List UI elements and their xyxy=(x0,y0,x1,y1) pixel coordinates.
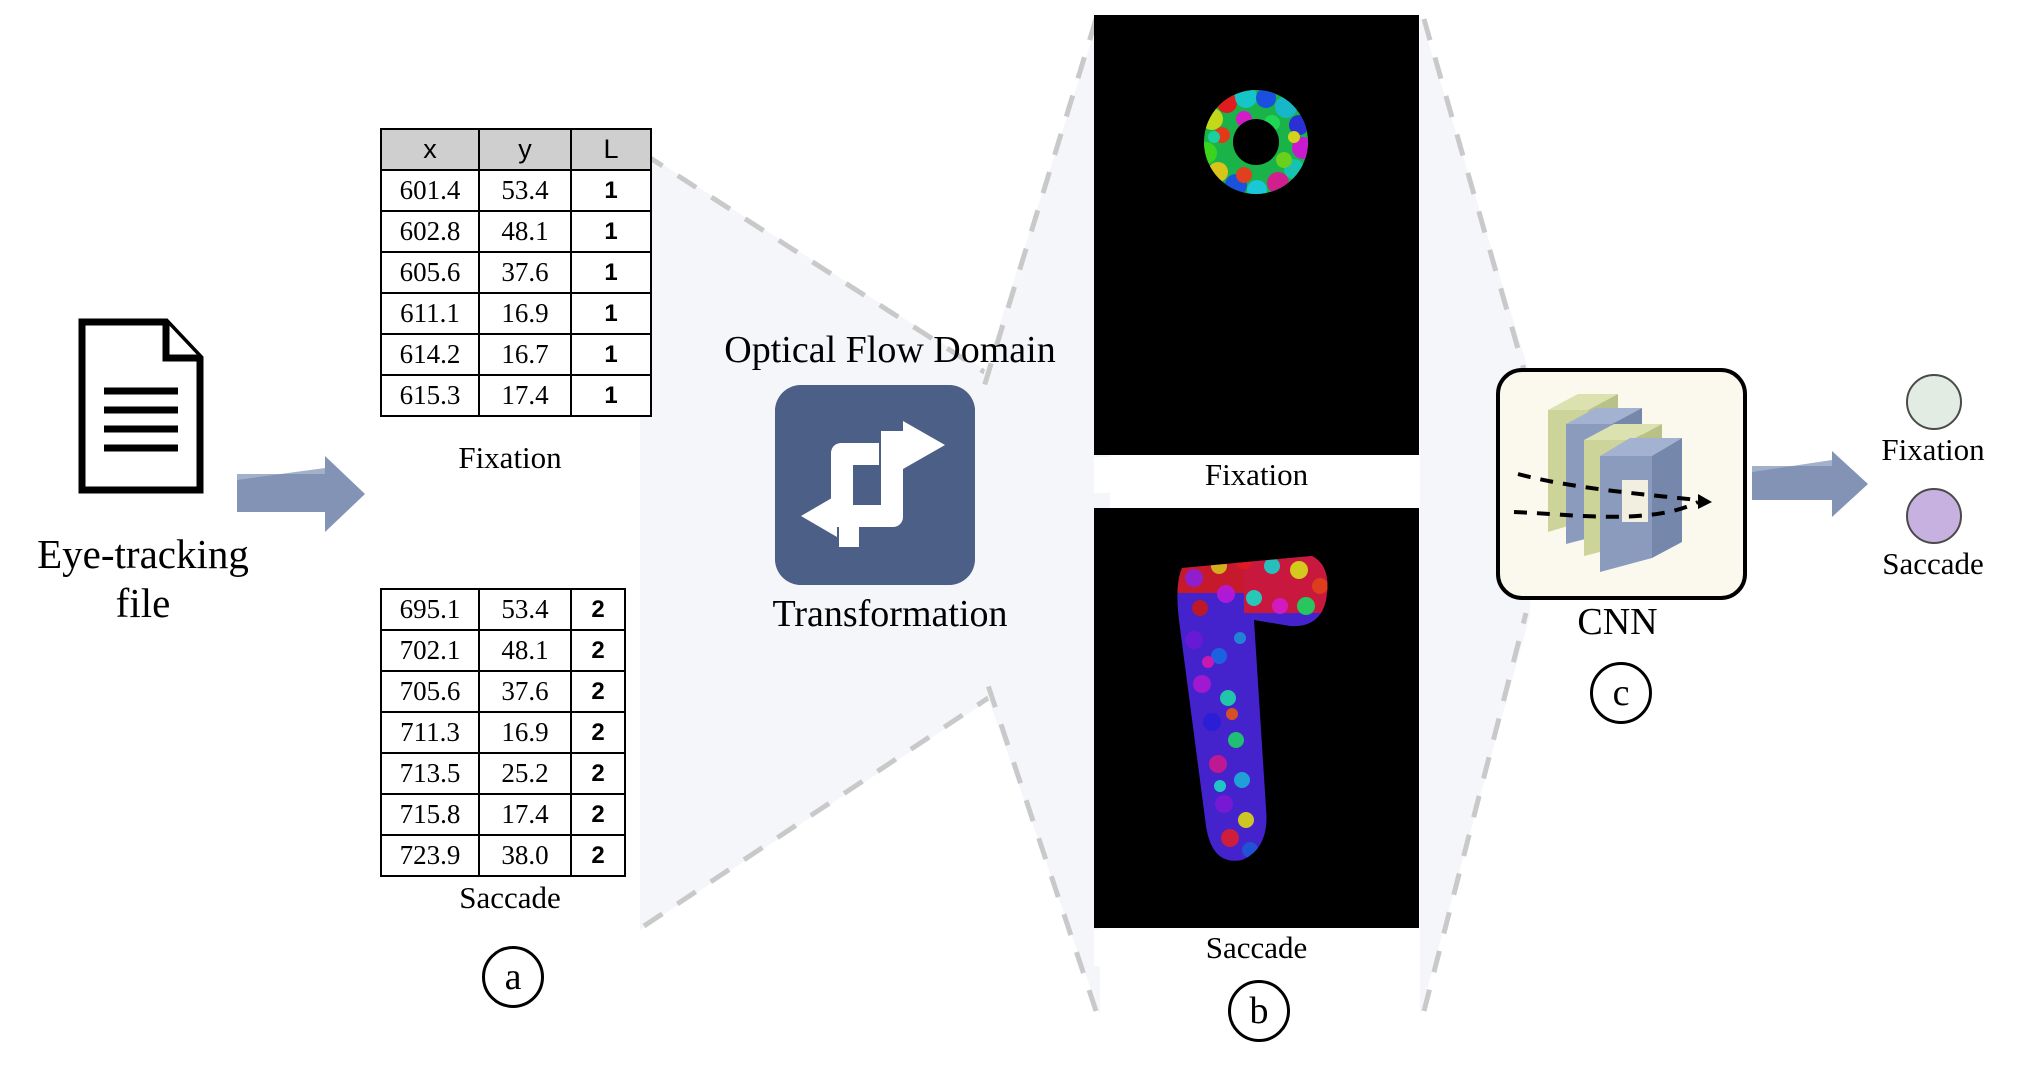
cell-x: 723.9 xyxy=(381,835,479,876)
output-dot-saccade xyxy=(1906,488,1962,544)
marker-a: a xyxy=(482,946,544,1008)
table-row: 602.8 48.1 1 xyxy=(381,211,651,252)
cell-l: 1 xyxy=(571,334,651,375)
cell-y: 48.1 xyxy=(479,211,571,252)
cell-l: 1 xyxy=(571,293,651,334)
cell-y: 53.4 xyxy=(479,589,571,630)
cell-x: 601.4 xyxy=(381,170,479,211)
table-row: 723.9 38.0 2 xyxy=(381,835,625,876)
cell-l: 2 xyxy=(571,753,625,794)
table-row: 601.4 53.4 1 xyxy=(381,170,651,211)
marker-b: b xyxy=(1228,980,1290,1042)
transformation-caption: Transformation xyxy=(680,592,1100,636)
cell-x: 615.3 xyxy=(381,375,479,416)
fixation-table-caption: Fixation xyxy=(380,440,640,476)
table-row: 715.8 17.4 2 xyxy=(381,794,625,835)
cnn-layers-icon xyxy=(1500,372,1735,588)
table-header-row: x y L xyxy=(381,129,651,170)
flow-transform-icon xyxy=(775,385,975,585)
column-header-l: L xyxy=(571,129,651,170)
cell-x: 602.8 xyxy=(381,211,479,252)
output-dot-fixation xyxy=(1906,374,1962,430)
cell-x: 715.8 xyxy=(381,794,479,835)
flow-image-saccade xyxy=(1094,508,1419,928)
cell-l: 2 xyxy=(571,589,625,630)
cell-l: 1 xyxy=(571,252,651,293)
input-label: Eye-tracking file xyxy=(8,530,278,628)
document-file-icon xyxy=(78,318,204,494)
cell-x: 605.6 xyxy=(381,252,479,293)
cell-l: 1 xyxy=(571,375,651,416)
table-row: 605.6 37.6 1 xyxy=(381,252,651,293)
table-row: 611.1 16.9 1 xyxy=(381,293,651,334)
cnn-caption: CNN xyxy=(1496,600,1739,644)
cell-y: 16.9 xyxy=(479,712,571,753)
input-label-line2: file xyxy=(8,579,278,628)
diagram-canvas: Eye-tracking file x y L 601.4 53.4 1 602… xyxy=(0,0,2038,1070)
column-header-y: y xyxy=(479,129,571,170)
funnel-transform-to-images xyxy=(980,15,1100,1015)
table-row: 702.1 48.1 2 xyxy=(381,630,625,671)
cell-y: 37.6 xyxy=(479,671,571,712)
saccade-table[interactable]: 695.1 53.4 2 702.1 48.1 2 705.6 37.6 2 7… xyxy=(380,588,626,877)
table-row: 713.5 25.2 2 xyxy=(381,753,625,794)
arrow-file-to-tables xyxy=(237,452,367,536)
table-row: 615.3 17.4 1 xyxy=(381,375,651,416)
fixation-table[interactable]: x y L 601.4 53.4 1 602.8 48.1 1 605.6 37… xyxy=(380,128,652,417)
cell-y: 48.1 xyxy=(479,630,571,671)
cell-l: 2 xyxy=(571,712,625,753)
cell-y: 25.2 xyxy=(479,753,571,794)
cell-y: 17.4 xyxy=(479,375,571,416)
cell-l: 1 xyxy=(571,170,651,211)
cell-x: 702.1 xyxy=(381,630,479,671)
cell-y: 53.4 xyxy=(479,170,571,211)
table-row: 711.3 16.9 2 xyxy=(381,712,625,753)
cell-x: 611.1 xyxy=(381,293,479,334)
saccade-table-caption: Saccade xyxy=(380,880,640,916)
cell-l: 2 xyxy=(571,835,625,876)
cell-x: 713.5 xyxy=(381,753,479,794)
flow-image-fixation-caption: Fixation xyxy=(1094,457,1419,493)
table-row: 695.1 53.4 2 xyxy=(381,589,625,630)
optical-flow-domain-title: Optical Flow Domain xyxy=(680,328,1100,372)
cell-x: 695.1 xyxy=(381,589,479,630)
flow-image-saccade-caption: Saccade xyxy=(1094,930,1419,966)
cell-l: 2 xyxy=(571,671,625,712)
marker-c: c xyxy=(1590,662,1652,724)
cell-y: 37.6 xyxy=(479,252,571,293)
column-header-x: x xyxy=(381,129,479,170)
cell-l: 2 xyxy=(571,794,625,835)
cell-x: 614.2 xyxy=(381,334,479,375)
cell-x: 711.3 xyxy=(381,712,479,753)
cell-y: 16.7 xyxy=(479,334,571,375)
table-row: 614.2 16.7 1 xyxy=(381,334,651,375)
output-label-fixation: Fixation xyxy=(1842,432,2024,468)
cell-l: 1 xyxy=(571,211,651,252)
table-row: 705.6 37.6 2 xyxy=(381,671,625,712)
flow-image-fixation xyxy=(1094,15,1419,455)
output-label-saccade: Saccade xyxy=(1842,546,2024,582)
cell-y: 16.9 xyxy=(479,293,571,334)
input-label-line1: Eye-tracking xyxy=(8,530,278,579)
cell-x: 705.6 xyxy=(381,671,479,712)
cell-l: 2 xyxy=(571,630,625,671)
cell-y: 17.4 xyxy=(479,794,571,835)
cell-y: 38.0 xyxy=(479,835,571,876)
